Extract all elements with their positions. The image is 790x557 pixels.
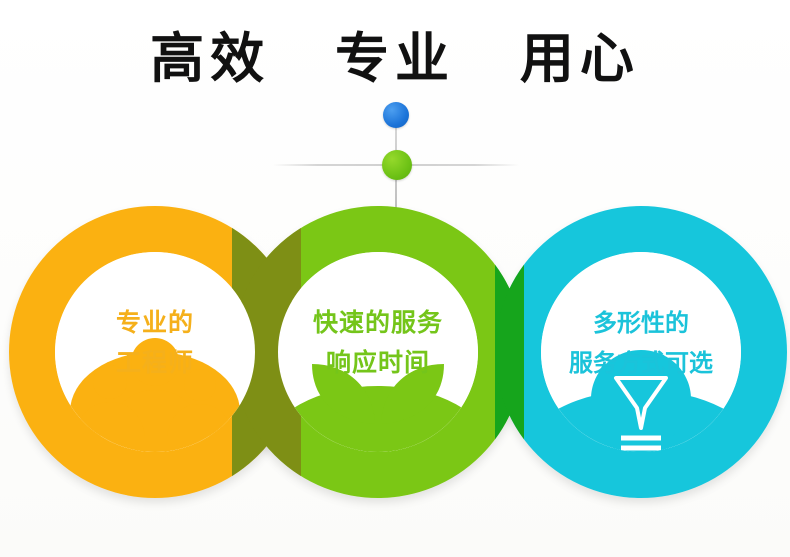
card-line: 响应时间 — [278, 343, 478, 383]
blue-dot-icon — [383, 102, 409, 128]
card-line: 快速的服务 — [278, 303, 478, 343]
headline-word-1: 高效 — [150, 28, 270, 90]
green-dot-icon — [382, 150, 412, 180]
connector-ornament — [341, 98, 451, 210]
card-line: 服务方式可选 — [541, 343, 741, 383]
card-line: 专业的 — [55, 303, 255, 343]
overlap-green-cyan-right — [495, 206, 524, 498]
headline-word-3: 用心 — [520, 28, 640, 90]
card-text-professional-engineers: 专业的 工程师 — [55, 303, 255, 383]
infographic-canvas: 高效 专业 用心 — [0, 0, 790, 557]
card-line: 多形性的 — [541, 303, 741, 343]
headline-word-2: 专业 — [335, 28, 455, 90]
card-line: 工程师 — [55, 343, 255, 383]
card-text-fast-response: 快速的服务 响应时间 — [278, 303, 478, 383]
card-text-flexible-service: 多形性的 服务方式可选 — [541, 303, 741, 383]
page-title: 高效 专业 用心 — [0, 28, 790, 90]
